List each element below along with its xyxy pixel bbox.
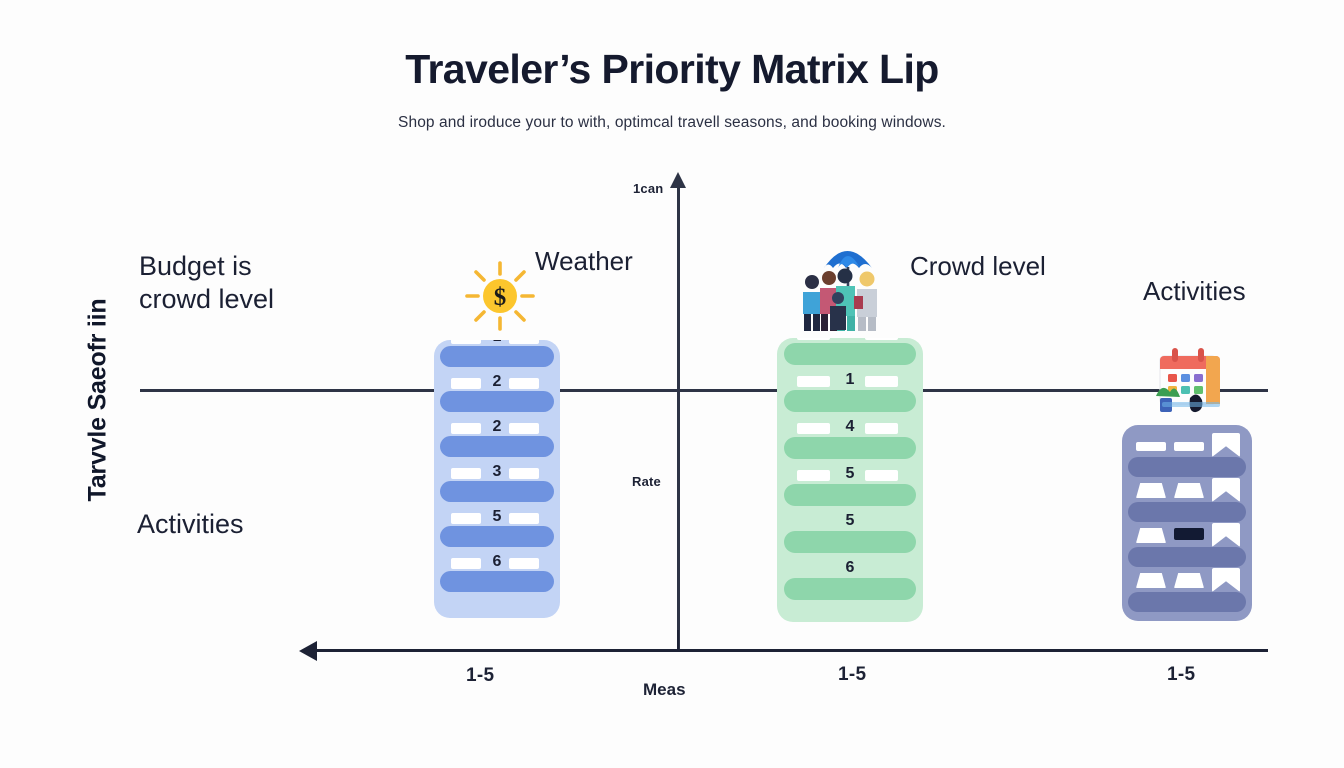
bottom-axis-line	[313, 649, 1268, 652]
bar-segment	[784, 578, 916, 600]
bar-placeholder-dash	[451, 558, 481, 569]
bar-placeholder-dash	[865, 376, 898, 387]
bar-placeholder-dash	[509, 423, 539, 434]
bottom-axis-arrow-icon	[299, 641, 317, 661]
bar-segment	[784, 531, 916, 553]
bar-placeholder-glyph	[1174, 573, 1204, 588]
bar-placeholder-dash	[509, 513, 539, 524]
bar-placeholder-dash	[451, 513, 481, 524]
bar-placeholder-glyph	[1212, 478, 1240, 502]
bar-segment	[440, 571, 554, 592]
bar-segment	[1128, 457, 1246, 477]
bar-segment	[1128, 592, 1246, 612]
bar-placeholder-dash	[451, 378, 481, 389]
quadrant-label-lower-left: Activities	[137, 508, 427, 541]
bar-placeholder-dash	[797, 338, 830, 340]
bar-value-label: 5	[777, 512, 923, 530]
bar-placeholder-dash	[451, 340, 481, 344]
bar-placeholder-dash	[797, 376, 830, 387]
x-tick-label-1: 1-5	[466, 665, 494, 687]
bar-placeholder-glyph	[1212, 523, 1240, 547]
horizontal-axis-line	[140, 389, 1268, 392]
bar-placeholder-dash	[509, 340, 539, 344]
group-label-weather: Weather	[535, 246, 633, 277]
bar-placeholder-glyph	[1212, 433, 1240, 457]
bar-placeholder-dash	[451, 423, 481, 434]
people-umbrella-icon	[796, 238, 898, 334]
matrix-chart-canvas: Traveler’s Priority Matrix Lip Shop and …	[0, 0, 1344, 768]
bar-placeholder-dash	[509, 378, 539, 389]
axis-top-label: 1can	[633, 181, 663, 196]
calendar-icon	[1146, 344, 1230, 414]
bar-segment	[784, 484, 916, 506]
bar-segment	[440, 436, 554, 457]
bar-placeholder-glyph	[1136, 573, 1166, 588]
bar-placeholder-dash	[865, 423, 898, 434]
x-tick-label-2: 1-5	[838, 664, 866, 686]
bar-placeholder-dash	[797, 423, 830, 434]
vertical-axis-line	[677, 182, 680, 652]
column-card-crowd-level[interactable]: 514556	[777, 338, 923, 622]
bar-placeholder-glyph	[1136, 528, 1166, 543]
bar-segment	[440, 391, 554, 412]
vertical-axis-arrow-icon	[670, 172, 686, 188]
column-card-activities[interactable]	[1122, 425, 1252, 621]
bar-placeholder-glyph	[1136, 442, 1166, 451]
column-card-weather[interactable]: 122356	[434, 340, 560, 618]
bar-segment	[1128, 502, 1246, 522]
bar-placeholder-dash	[865, 470, 898, 481]
bar-placeholder-dash	[865, 338, 898, 340]
quadrant-label-line-1: crowd level	[139, 283, 429, 316]
bar-placeholder-dash	[797, 470, 830, 481]
bar-value-label: 6	[777, 559, 923, 577]
bar-segment	[784, 390, 916, 412]
y-axis-title: Tarvvle Saeofr iin	[84, 299, 113, 502]
page-title: Traveler’s Priority Matrix Lip	[0, 46, 1344, 93]
bar-placeholder-glyph	[1174, 442, 1204, 451]
axis-mid-label: Rate	[632, 474, 661, 489]
bar-placeholder-glyph	[1174, 483, 1204, 498]
bar-segment	[440, 346, 554, 367]
bar-segment	[784, 437, 916, 459]
group-label-activities: Activities	[1143, 276, 1246, 307]
bar-placeholder-glyph	[1212, 568, 1240, 592]
quadrant-label-upper-left: Budget iscrowd level	[139, 250, 429, 316]
bar-segment	[1128, 547, 1246, 567]
bar-segment	[784, 343, 916, 365]
bottom-axis-center-tick	[677, 630, 679, 650]
x-tick-label-3: 1-5	[1167, 664, 1195, 686]
svg-text:$: $	[494, 284, 507, 311]
sun-dollar-icon: $	[462, 258, 538, 334]
group-label-crowd-level: Crowd level	[910, 251, 1046, 282]
bar-placeholder-dash	[451, 468, 481, 479]
bar-placeholder-dash	[509, 468, 539, 479]
x-axis-center-label: Meas	[643, 680, 686, 700]
quadrant-label-line-0: Budget is	[139, 250, 429, 283]
bar-segment	[440, 526, 554, 547]
page-subtitle: Shop and iroduce your to with, optimcal …	[0, 114, 1344, 132]
bar-placeholder-glyph	[1136, 483, 1166, 498]
bar-placeholder-glyph	[1174, 528, 1204, 540]
bar-placeholder-dash	[509, 558, 539, 569]
bar-segment	[440, 481, 554, 502]
